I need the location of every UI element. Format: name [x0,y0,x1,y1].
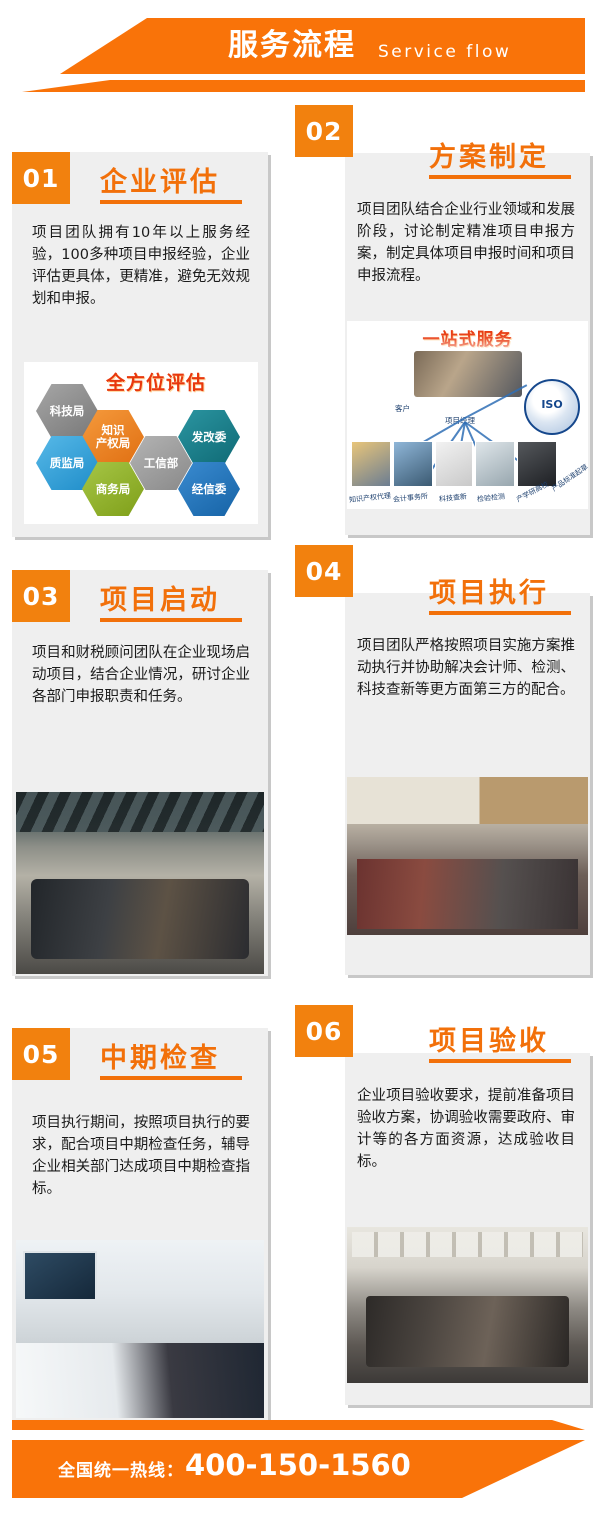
thumb-inspection [475,441,515,487]
title-underline [100,1076,242,1080]
caption-accounting-firm: 会计事务所 [393,491,429,505]
one-stop-title: 一站式服务 [347,325,588,350]
title-underline [100,200,242,204]
hex-label: 知识 产权局 [96,424,131,450]
hex-label: 商务局 [96,483,131,496]
title-underline [429,175,571,179]
step-number-badge: 05 [12,1028,70,1080]
title-underline [429,611,571,615]
step-title: 项目启动 [100,578,220,617]
node-label-customer: 客户 [395,403,410,414]
footer-orange-stripe [12,1420,585,1430]
thumb-ip-agency [351,441,391,487]
header-orange-stripe [0,80,585,92]
step-title: 中期检查 [100,1036,220,1075]
page-title: 服务流程 [228,26,356,66]
step-title: 项目验收 [429,1019,549,1058]
step-description: 项目团队拥有10年以上服务经验，100多种项目申报经验，企业评估更具体，更精准，… [32,222,250,310]
step-number-badge: 02 [295,105,353,157]
hotline-number[interactable]: 400-150-1560 [185,1448,411,1482]
step-title: 企业评估 [100,160,220,199]
service-flow-infographic: 服务流程 Service flow 01 企业评估 项目团队拥有10年以上服务经… [0,0,605,1538]
thumb-accounting-firm [393,441,433,487]
step-number-badge: 06 [295,1005,353,1057]
caption-tech-search: 科技查新 [439,492,468,505]
step-card-06: 06 项目验收 企业项目验收要求，提前准备项目验收方案，协调验收需要政府、审计等… [295,1005,590,1405]
thumb-tech-search [435,441,473,487]
step-description: 项目团队严格按照项目实施方案推动执行并协助解决会计师、检测、科技查新等更方面第三… [357,635,575,701]
iso-seal-icon: ISO [524,379,580,435]
step-description: 项目执行期间，按照项目执行的要求，配合项目中期检查任务，辅导企业相关部门达成项目… [32,1112,250,1200]
step-card-04: 04 项目执行 项目团队严格按照项目实施方案推动执行并协助解决会计师、检测、科技… [295,545,590,975]
hotline-label: 全国统一热线： [58,1456,184,1481]
title-underline [100,618,242,622]
step-card-01: 01 企业评估 项目团队拥有10年以上服务经验，100多种项目申报经验，企业评估… [12,152,272,540]
step-card-05: 05 中期检查 项目执行期间，按照项目执行的要求，配合项目中期检查任务，辅导企业… [12,1028,272,1426]
thumb-university [517,441,557,487]
hex-label: 工信部 [144,457,179,470]
step-number-badge: 04 [295,545,353,597]
meeting-room-photo [16,792,264,974]
step-card-02: 02 方案制定 项目团队结合企业行业领域和发展阶段，讨论制定精准项目申报方案，制… [295,105,590,535]
step-description: 企业项目验收要求，提前准备项目验收方案，协调验收需要政府、审计等的各方面资源，达… [357,1085,575,1173]
hub-photo [414,351,522,397]
page-header: 服务流程 Service flow [0,0,605,108]
title-underline [429,1059,571,1063]
page-subtitle: Service flow [378,38,511,66]
step-card-03: 03 项目启动 项目和财税顾问团队在企业现场启动项目，结合企业情况，研讨企业各部… [12,570,272,980]
hexagon-assessment-chart: 全方位评估 科技局 知识 产权局 质监局 工信部 商务局 发改委 经信委 [24,362,258,524]
step-description: 项目和财税顾问团队在企业现场启动项目，结合企业情况，研讨企业各部门申报职责和任务… [32,642,250,708]
office-worksession-photo [347,777,588,935]
showroom-visit-photo [16,1240,264,1418]
one-stop-service-diagram: 一站式服务 客户 项目经理 知识产权代理 会计事务所 科技查新 检验检测 产学研… [347,321,588,509]
step-description: 项目团队结合企业行业领域和发展阶段，讨论制定精准项目申报方案，制定具体项目申报时… [357,199,575,287]
step-title: 方案制定 [429,135,549,174]
hex-label: 发改委 [192,431,227,444]
caption-ip-agency: 知识产权代理 [349,491,392,505]
seal-label: ISO [526,398,578,411]
hex-label: 经信委 [192,483,227,496]
step-number-badge: 03 [12,570,70,622]
hex-chart-title: 全方位评估 [106,368,206,395]
caption-inspection: 检验检测 [477,492,506,505]
page-footer: 全国统一热线： 400-150-1560 [0,1410,605,1520]
hex-label: 科技局 [50,405,85,418]
hex-label: 质监局 [50,457,85,470]
step-title: 项目执行 [429,571,549,610]
boardroom-acceptance-photo [347,1227,588,1383]
step-number-badge: 01 [12,152,70,204]
